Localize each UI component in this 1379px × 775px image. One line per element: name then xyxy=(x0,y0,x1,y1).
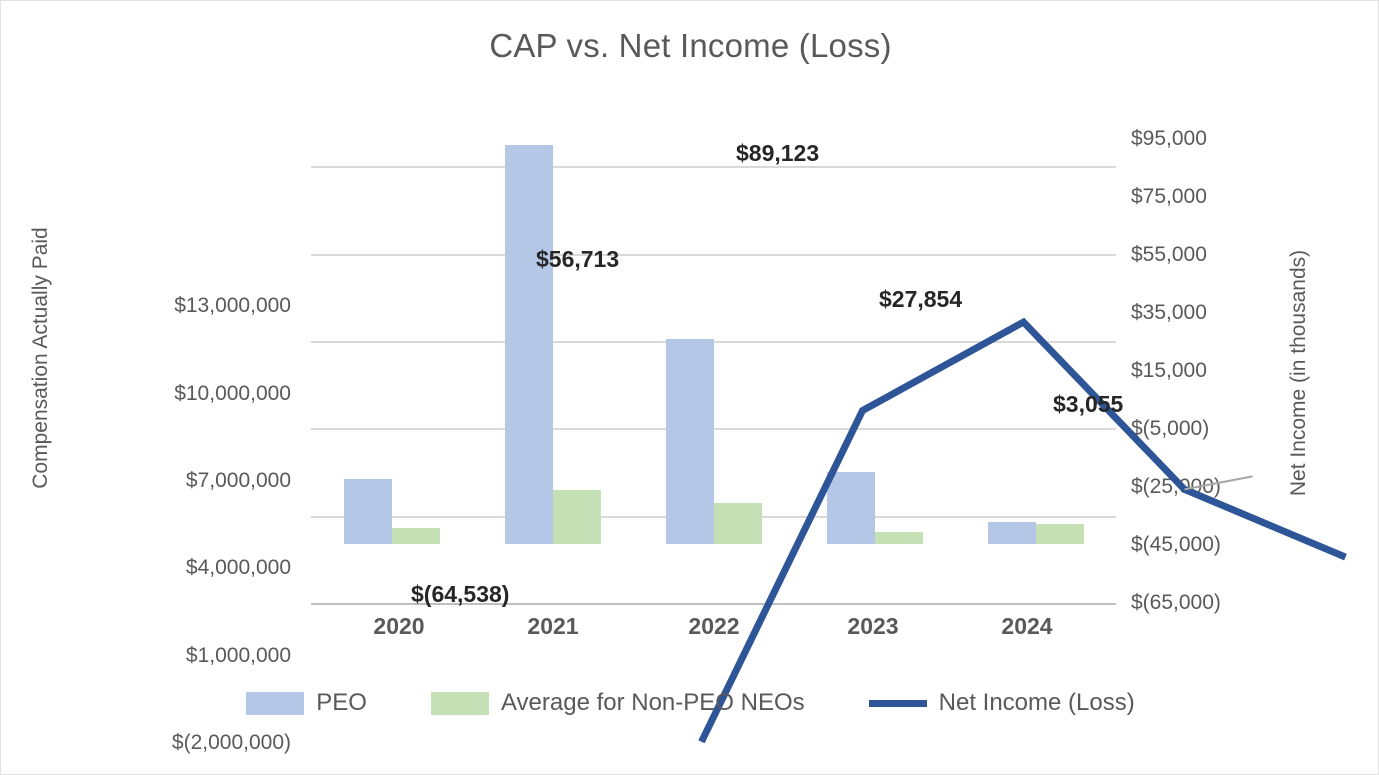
legend-label-net-income: Net Income (Loss) xyxy=(939,689,1135,717)
y-tick-left-3: $4,000,000 xyxy=(61,556,291,580)
y-tick-left-2: $7,000,000 xyxy=(61,469,291,493)
y-tick-left-0: $13,000,000 xyxy=(61,294,291,318)
legend-swatch-icon-peo xyxy=(246,692,304,715)
x-label-2022: 2022 xyxy=(634,613,794,640)
point-label-2021: $56,713 xyxy=(536,246,619,273)
y-tick-left-5: $(2,000,000) xyxy=(61,731,291,755)
y-tick-left-4: $1,000,000 xyxy=(61,644,291,668)
bar-peo-2021 xyxy=(505,145,553,544)
legend-swatch-icon-non-peo-neos xyxy=(431,692,489,715)
plot-area: $(64,538) $56,713 $89,123 $27,854 $3,055 xyxy=(311,141,1116,604)
x-axis-labels: 2020 2021 2022 2023 2024 xyxy=(311,613,1116,647)
y-tick-left-1: $10,000,000 xyxy=(61,382,291,406)
chart-container: CAP vs. Net Income (Loss) Compensation A… xyxy=(0,0,1379,775)
legend-line-icon-net-income xyxy=(869,700,927,707)
bar-peo-2020 xyxy=(344,479,392,544)
chart-title: CAP vs. Net Income (Loss) xyxy=(1,27,1379,65)
legend-item-net-income[interactable]: Net Income (Loss) xyxy=(869,689,1135,717)
bar-non-peo-neos-2021 xyxy=(553,490,601,544)
y-tick-right-0: $95,000 xyxy=(1131,127,1331,151)
chart-legend: PEO Average for Non-PEO NEOs Net Income … xyxy=(1,689,1379,717)
point-label-2022: $89,123 xyxy=(736,140,819,167)
y-tick-right-2: $55,000 xyxy=(1131,243,1331,267)
x-label-2023: 2023 xyxy=(793,613,953,640)
legend-item-peo[interactable]: PEO xyxy=(246,689,367,717)
bar-non-peo-neos-2020 xyxy=(392,528,440,544)
gridline-13m xyxy=(311,166,1116,168)
legend-label-non-peo-neos: Average for Non-PEO NEOs xyxy=(501,689,805,717)
point-label-2020: $(64,538) xyxy=(411,581,509,608)
legend-label-peo: PEO xyxy=(316,689,367,717)
net-income-line-series xyxy=(621,281,1379,744)
gridline-10m xyxy=(311,254,1116,256)
net-income-polyline xyxy=(702,322,1346,742)
x-label-2021: 2021 xyxy=(473,613,633,640)
point-label-2023: $27,854 xyxy=(879,286,962,313)
x-label-2024: 2024 xyxy=(947,613,1107,640)
x-label-2020: 2020 xyxy=(319,613,479,640)
legend-item-non-peo-neos[interactable]: Average for Non-PEO NEOs xyxy=(431,689,805,717)
point-label-2024: $3,055 xyxy=(1053,391,1123,418)
y-axis-left-ticks: $13,000,000 $10,000,000 $7,000,000 $4,00… xyxy=(36,141,291,604)
y-tick-right-1: $75,000 xyxy=(1131,185,1331,209)
label-leader-line xyxy=(1185,476,1253,489)
